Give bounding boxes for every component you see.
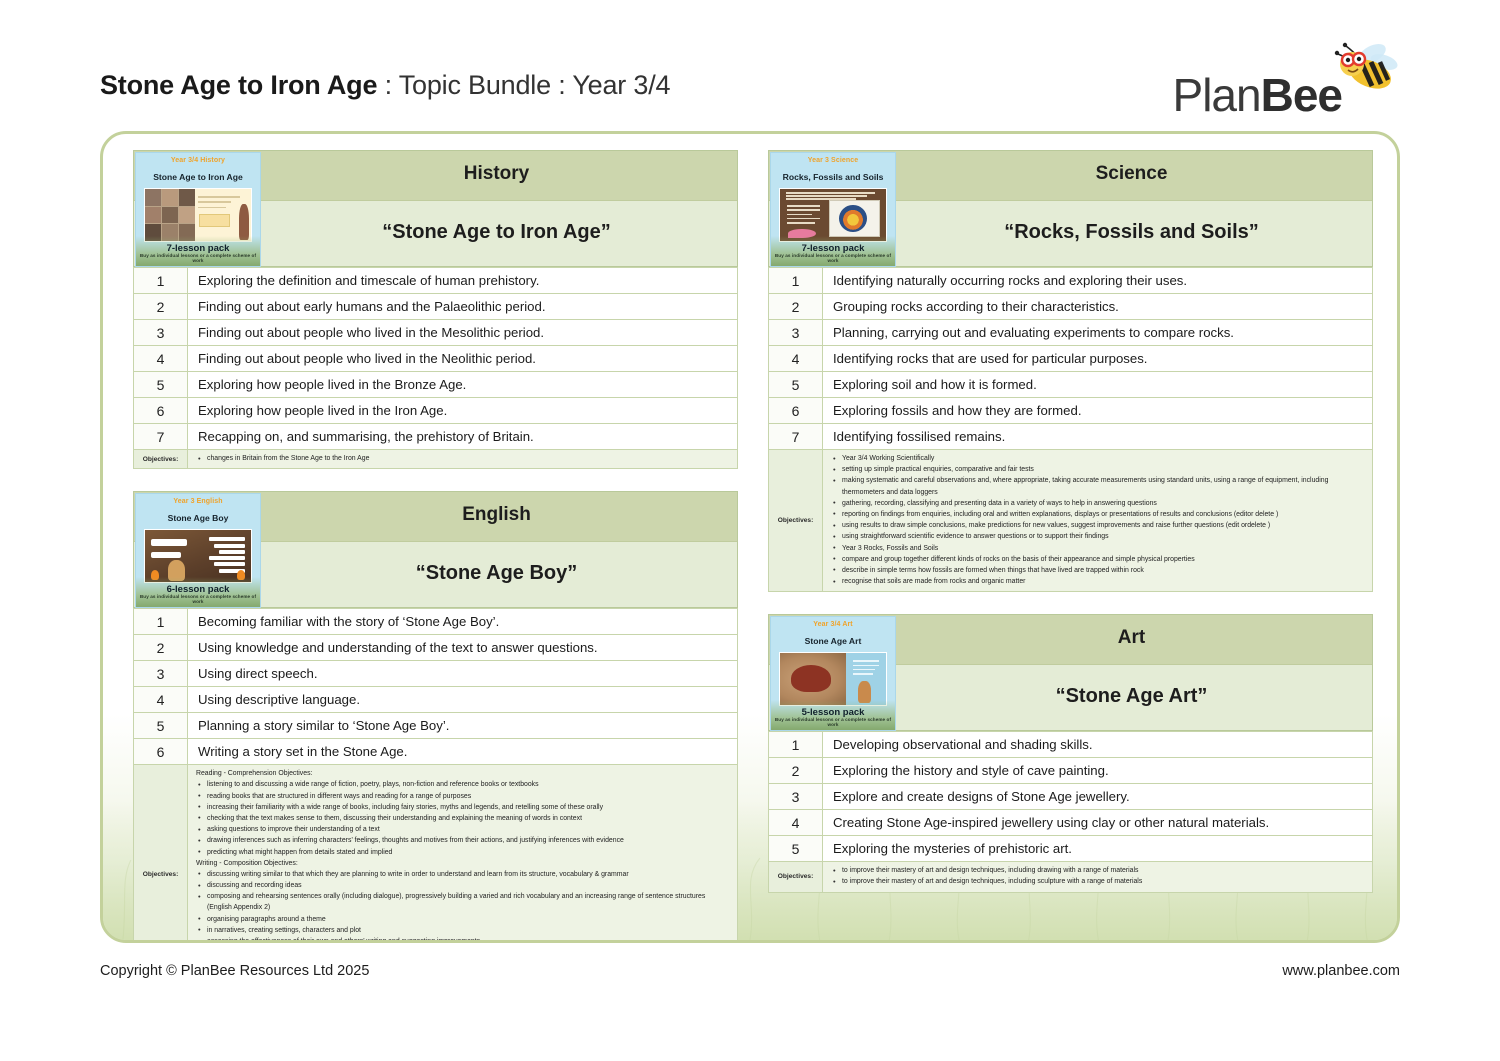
table-row[interactable]: 4Creating Stone Age-inspired jewellery u… — [769, 810, 1373, 836]
lesson-table-history: 1Exploring the definition and timescale … — [133, 267, 738, 450]
table-row[interactable]: 3Using direct speech. — [134, 661, 738, 687]
page-title: Stone Age to Iron Age : Topic Bundle : Y… — [100, 70, 670, 101]
objective-item: reporting on findings from enquiries, in… — [831, 509, 1366, 520]
lesson-title: Using knowledge and understanding of the… — [188, 635, 738, 661]
thumb-subtext-label: Buy as individual lessons or a complete … — [136, 253, 260, 263]
table-row[interactable]: 1Exploring the definition and timescale … — [134, 268, 738, 294]
thumb-preview-image — [144, 529, 252, 583]
lesson-number: 2 — [134, 294, 188, 320]
lesson-title: Planning, carrying out and evaluating ex… — [823, 320, 1373, 346]
thumb-year-label: Year 3 English — [136, 498, 260, 505]
subject-block-art: Art“Stone Age Art”Year 3/4 ArtStone Age … — [768, 614, 1373, 892]
lesson-title: Becoming familiar with the story of ‘Sto… — [188, 609, 738, 635]
page-header: Stone Age to Iron Age : Topic Bundle : Y… — [0, 0, 1500, 128]
objective-item: setting up simple practical enquiries, c… — [831, 464, 1366, 475]
objective-item: changes in Britain from the Stone Age to… — [196, 453, 731, 464]
objective-item: reading books that are structured in dif… — [196, 791, 731, 802]
table-row[interactable]: 4Using descriptive language. — [134, 687, 738, 713]
pack-thumbnail-english[interactable]: Year 3 EnglishStone Age Boy6-lesson pack… — [135, 493, 261, 608]
lesson-title: Finding out about early humans and the P… — [188, 294, 738, 320]
subject-quote: “Stone Age to Iron Age” — [264, 221, 729, 244]
lesson-number: 3 — [769, 320, 823, 346]
logo-wordmark: PlanBee — [1173, 68, 1342, 122]
lesson-number: 3 — [769, 784, 823, 810]
planbee-logo: PlanBee — [1150, 38, 1400, 124]
table-row[interactable]: 2Using knowledge and understanding of th… — [134, 635, 738, 661]
lesson-number: 6 — [769, 398, 823, 424]
objective-item: using straightforward scientific evidenc… — [831, 531, 1366, 542]
table-row[interactable]: 5Exploring soil and how it is formed. — [769, 372, 1373, 398]
thumb-title-label: Rocks, Fossils and Soils — [773, 172, 893, 182]
lesson-number: 4 — [769, 810, 823, 836]
lesson-title: Identifying rocks that are used for part… — [823, 346, 1373, 372]
bundle-board: History“Stone Age to Iron Age”Year 3/4 H… — [100, 131, 1400, 943]
lesson-title: Identifying fossilised remains. — [823, 424, 1373, 450]
lesson-number: 4 — [134, 687, 188, 713]
objective-item: organising paragraphs around a theme — [196, 914, 731, 925]
subject-block-english: English“Stone Age Boy”Year 3 EnglishSton… — [133, 491, 738, 943]
objective-item: compare and group together different kin… — [831, 554, 1366, 565]
lesson-title: Grouping rocks according to their charac… — [823, 294, 1373, 320]
table-row[interactable]: 6Exploring fossils and how they are form… — [769, 398, 1373, 424]
subject-name: English — [264, 504, 729, 526]
objective-item: assessing the effectiveness of their own… — [196, 936, 731, 943]
objective-item: Year 3 Rocks, Fossils and Soils — [831, 543, 1366, 554]
lesson-table-science: 1Identifying naturally occurring rocks a… — [768, 267, 1373, 450]
subject-name: Art — [899, 627, 1364, 649]
objectives-label: Objectives: — [134, 765, 188, 943]
lesson-number: 4 — [769, 346, 823, 372]
objectives-list: changes in Britain from the Stone Age to… — [188, 450, 737, 468]
lesson-number: 3 — [134, 661, 188, 687]
objectives-label: Objectives: — [769, 862, 823, 891]
thumb-year-label: Year 3 Science — [771, 157, 895, 164]
thumb-title-label: Stone Age to Iron Age — [138, 172, 258, 182]
lesson-title: Explore and create designs of Stone Age … — [823, 784, 1373, 810]
lesson-number: 5 — [769, 372, 823, 398]
table-row[interactable]: 2Finding out about early humans and the … — [134, 294, 738, 320]
objective-item: describe in simple terms how fossils are… — [831, 565, 1366, 576]
lesson-number: 7 — [134, 424, 188, 450]
thumb-preview-image — [779, 188, 887, 242]
thumb-preview-image — [779, 652, 887, 706]
table-row[interactable]: 5Exploring how people lived in the Bronz… — [134, 372, 738, 398]
lesson-number: 5 — [134, 713, 188, 739]
lesson-title: Using direct speech. — [188, 661, 738, 687]
lesson-title: Finding out about people who lived in th… — [188, 320, 738, 346]
lesson-title: Developing observational and shading ski… — [823, 732, 1373, 758]
objectives-block-history: Objectives:changes in Britain from the S… — [133, 450, 738, 469]
thumb-title-label: Stone Age Boy — [138, 513, 258, 523]
table-row[interactable]: 3Finding out about people who lived in t… — [134, 320, 738, 346]
objectives-block-science: Objectives:Year 3/4 Working Scientifical… — [768, 450, 1373, 592]
objective-item: Writing - Composition Objectives: — [196, 858, 731, 869]
lesson-number: 7 — [769, 424, 823, 450]
lesson-number: 5 — [769, 836, 823, 862]
lesson-title: Exploring fossils and how they are forme… — [823, 398, 1373, 424]
table-row[interactable]: 2Grouping rocks according to their chara… — [769, 294, 1373, 320]
lesson-title: Writing a story set in the Stone Age. — [188, 739, 738, 765]
subject-name: Science — [899, 163, 1364, 185]
page-title-rest: : Topic Bundle : Year 3/4 — [377, 70, 670, 100]
lesson-number: 4 — [134, 346, 188, 372]
thumb-preview-image — [144, 188, 252, 242]
objectives-list: Year 3/4 Working Scientificallysetting u… — [823, 450, 1372, 591]
thumb-subtext-label: Buy as individual lessons or a complete … — [771, 253, 895, 263]
lesson-number: 1 — [134, 609, 188, 635]
lesson-table-art: 1Developing observational and shading sk… — [768, 731, 1373, 862]
copyright-text: Copyright © PlanBee Resources Ltd 2025 — [100, 963, 369, 979]
column-right: Science“Rocks, Fossils and Soils”Year 3 … — [768, 150, 1373, 915]
lesson-number: 2 — [769, 758, 823, 784]
lesson-number: 1 — [769, 268, 823, 294]
table-row[interactable]: 2Exploring the history and style of cave… — [769, 758, 1373, 784]
table-row[interactable]: 6Exploring how people lived in the Iron … — [134, 398, 738, 424]
objectives-block-art: Objectives:to improve their mastery of a… — [768, 862, 1373, 892]
lesson-title: Creating Stone Age-inspired jewellery us… — [823, 810, 1373, 836]
table-row[interactable]: 1Becoming familiar with the story of ‘St… — [134, 609, 738, 635]
subject-header-science: Science“Rocks, Fossils and Soils”Year 3 … — [768, 150, 1373, 267]
lesson-number: 6 — [134, 398, 188, 424]
table-row[interactable]: 3Planning, carrying out and evaluating e… — [769, 320, 1373, 346]
thumb-title-label: Stone Age Art — [773, 636, 893, 646]
objective-item: predicting what might happen from detail… — [196, 847, 731, 858]
bee-icon — [1328, 38, 1400, 100]
objective-item: making systematic and careful observatio… — [831, 475, 1366, 497]
lesson-title: Identifying naturally occurring rocks an… — [823, 268, 1373, 294]
table-row[interactable]: 1Identifying naturally occurring rocks a… — [769, 268, 1373, 294]
table-row[interactable]: 4Finding out about people who lived in t… — [134, 346, 738, 372]
objective-item: checking that the text makes sense to th… — [196, 813, 731, 824]
lesson-title: Finding out about people who lived in th… — [188, 346, 738, 372]
lesson-number: 1 — [769, 732, 823, 758]
lesson-title: Exploring the history and style of cave … — [823, 758, 1373, 784]
objective-item: to improve their mastery of art and desi… — [831, 865, 1366, 876]
table-row[interactable]: 4Identifying rocks that are used for par… — [769, 346, 1373, 372]
objective-item: discussing writing similar to that which… — [196, 869, 731, 880]
objective-item: using results to draw simple conclusions… — [831, 520, 1366, 531]
thumb-subtext-label: Buy as individual lessons or a complete … — [771, 717, 895, 727]
table-row[interactable]: 6Writing a story set in the Stone Age. — [134, 739, 738, 765]
page-footer: Copyright © PlanBee Resources Ltd 2025 w… — [0, 955, 1500, 1005]
lesson-title: Exploring how people lived in the Bronze… — [188, 372, 738, 398]
page-title-bold: Stone Age to Iron Age — [100, 70, 377, 100]
subject-block-history: History“Stone Age to Iron Age”Year 3/4 H… — [133, 150, 738, 469]
objectives-label: Objectives: — [769, 450, 823, 591]
website-link[interactable]: www.planbee.com — [1282, 963, 1400, 979]
thumb-year-label: Year 3/4 Art — [771, 621, 895, 628]
subject-header-art: Art“Stone Age Art”Year 3/4 ArtStone Age … — [768, 614, 1373, 731]
subject-header-history: History“Stone Age to Iron Age”Year 3/4 H… — [133, 150, 738, 267]
lesson-title: Planning a story similar to ‘Stone Age B… — [188, 713, 738, 739]
objective-item: listening to and discussing a wide range… — [196, 779, 731, 790]
objective-item: composing and rehearsing sentences orall… — [196, 891, 731, 913]
objective-item: drawing inferences such as inferring cha… — [196, 835, 731, 846]
objective-item: discussing and recording ideas — [196, 880, 731, 891]
subject-name: History — [264, 163, 729, 185]
objectives-label: Objectives: — [134, 450, 188, 468]
lesson-number: 6 — [134, 739, 188, 765]
lesson-title: Exploring the mysteries of prehistoric a… — [823, 836, 1373, 862]
pack-thumbnail-art[interactable]: Year 3/4 ArtStone Age Art5-lesson packBu… — [770, 616, 896, 731]
objective-item: Year 3/4 Working Scientifically — [831, 453, 1366, 464]
objective-item: recognise that soils are made from rocks… — [831, 576, 1366, 587]
subject-quote: “Stone Age Boy” — [264, 562, 729, 585]
lesson-title: Exploring soil and how it is formed. — [823, 372, 1373, 398]
pack-thumbnail-history[interactable]: Year 3/4 HistoryStone Age to Iron Age7-l… — [135, 152, 261, 267]
lesson-number: 2 — [769, 294, 823, 320]
table-row[interactable]: 3Explore and create designs of Stone Age… — [769, 784, 1373, 810]
objectives-list: Reading - Comprehension Objectives:liste… — [188, 765, 737, 943]
lesson-title: Exploring how people lived in the Iron A… — [188, 398, 738, 424]
column-left: History“Stone Age to Iron Age”Year 3/4 H… — [133, 150, 738, 943]
subject-quote: “Rocks, Fossils and Soils” — [899, 221, 1364, 244]
subject-header-english: English“Stone Age Boy”Year 3 EnglishSton… — [133, 491, 738, 608]
subject-quote: “Stone Age Art” — [899, 685, 1364, 708]
logo-plan-text: Plan — [1173, 69, 1261, 121]
thumb-subtext-label: Buy as individual lessons or a complete … — [136, 594, 260, 604]
table-row[interactable]: 5Planning a story similar to ‘Stone Age … — [134, 713, 738, 739]
lesson-number: 1 — [134, 268, 188, 294]
table-row[interactable]: 7Recapping on, and summarising, the preh… — [134, 424, 738, 450]
objective-item: to improve their mastery of art and desi… — [831, 876, 1366, 887]
lesson-title: Recapping on, and summarising, the prehi… — [188, 424, 738, 450]
objective-item: gathering, recording, classifying and pr… — [831, 498, 1366, 509]
lesson-number: 2 — [134, 635, 188, 661]
table-row[interactable]: 1Developing observational and shading sk… — [769, 732, 1373, 758]
table-row[interactable]: 7Identifying fossilised remains. — [769, 424, 1373, 450]
objective-item: asking questions to improve their unders… — [196, 824, 731, 835]
objective-item: increasing their familiarity with a wide… — [196, 802, 731, 813]
objectives-list: to improve their mastery of art and desi… — [823, 862, 1372, 891]
lesson-table-english: 1Becoming familiar with the story of ‘St… — [133, 608, 738, 765]
page-root: Stone Age to Iron Age : Topic Bundle : Y… — [0, 0, 1500, 1061]
objective-item: in narratives, creating settings, charac… — [196, 925, 731, 936]
thumb-year-label: Year 3/4 History — [136, 157, 260, 164]
lesson-number: 5 — [134, 372, 188, 398]
objectives-block-english: Objectives:Reading - Comprehension Objec… — [133, 765, 738, 943]
subject-block-science: Science“Rocks, Fossils and Soils”Year 3 … — [768, 150, 1373, 592]
lesson-title: Exploring the definition and timescale o… — [188, 268, 738, 294]
objective-item: Reading - Comprehension Objectives: — [196, 768, 731, 779]
lesson-title: Using descriptive language. — [188, 687, 738, 713]
lesson-number: 3 — [134, 320, 188, 346]
table-row[interactable]: 5Exploring the mysteries of prehistoric … — [769, 836, 1373, 862]
pack-thumbnail-science[interactable]: Year 3 ScienceRocks, Fossils and Soils7-… — [770, 152, 896, 267]
